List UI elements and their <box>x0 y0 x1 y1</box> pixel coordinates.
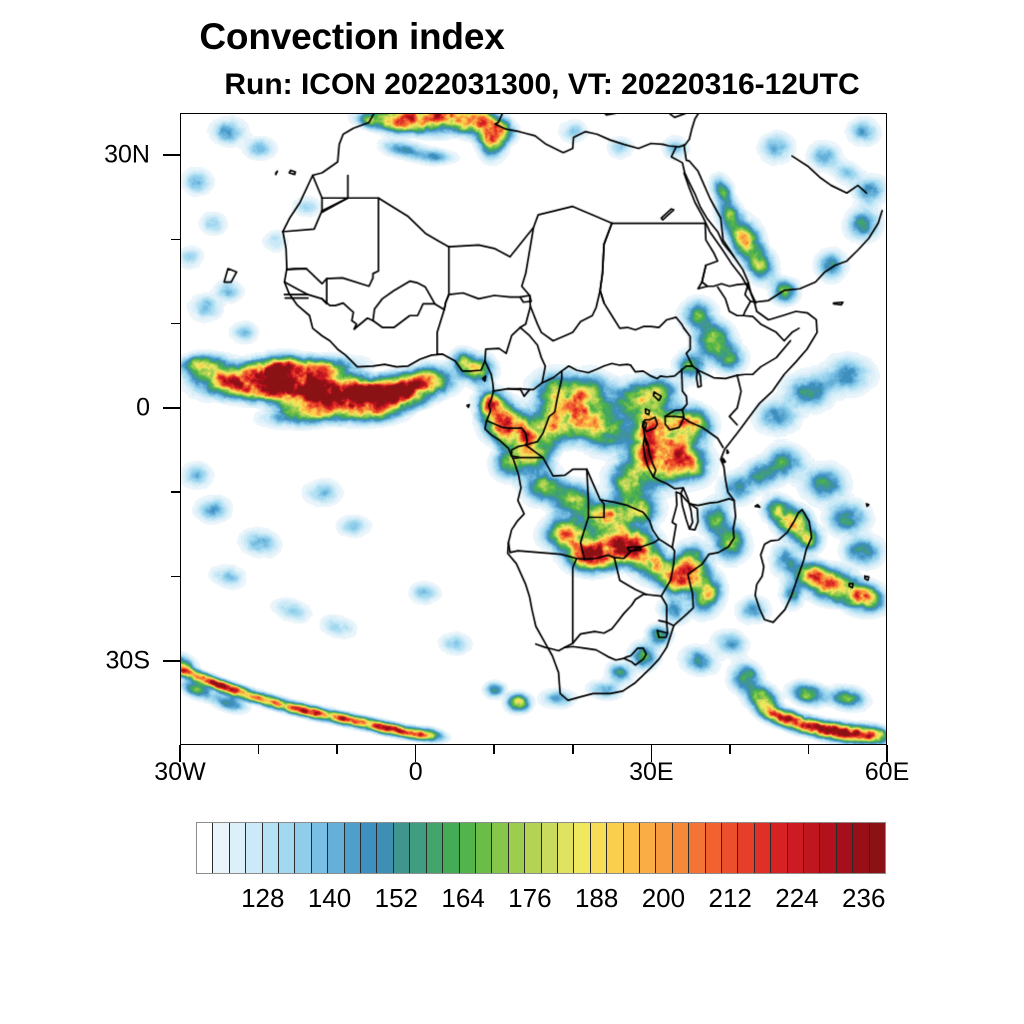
colorbar-cell <box>837 823 853 873</box>
map-panel <box>180 113 887 745</box>
colorbar <box>196 822 886 874</box>
colorbar-cell <box>213 823 229 873</box>
colorbar-cell <box>738 823 754 873</box>
colorbar-cell <box>509 823 525 873</box>
x-axis-label: 60E <box>865 760 909 785</box>
colorbar-cell <box>525 823 541 873</box>
page-title-text: Convection index <box>199 18 504 55</box>
colorbar-tick-label: 236 <box>842 885 885 911</box>
colorbar-cell <box>771 823 787 873</box>
y-tick-minor <box>171 239 180 241</box>
colorbar-tick-label: 176 <box>508 885 551 911</box>
x-tick-minor <box>729 745 731 754</box>
colorbar-cell <box>328 823 344 873</box>
colorbar-tick-label: 140 <box>308 885 351 911</box>
colorbar-cell <box>689 823 705 873</box>
colorbar-tick-label: 128 <box>241 885 284 911</box>
colorbar-cell <box>443 823 459 873</box>
colorbar-cell <box>558 823 574 873</box>
x-tick-minor <box>808 745 810 754</box>
colorbar-cell <box>755 823 771 873</box>
colorbar-cell <box>394 823 410 873</box>
colorbar-cell <box>591 823 607 873</box>
colorbar-cell <box>263 823 279 873</box>
colorbar-tick-label: 224 <box>775 885 818 911</box>
y-tick-major <box>163 660 180 662</box>
y-axis-label: 30S <box>106 648 150 673</box>
colorbar-cell <box>460 823 476 873</box>
y-axis-label: 30N <box>104 143 150 168</box>
x-tick-minor <box>572 745 574 754</box>
colorbar-cell <box>542 823 558 873</box>
x-axis-label: 0 <box>409 760 423 785</box>
colorbar-cell <box>230 823 246 873</box>
colorbar-cell <box>197 823 213 873</box>
colorbar-cell <box>295 823 311 873</box>
colorbar-tick-labels: 128140152164176188200212224236 <box>0 885 1024 919</box>
y-tick-major <box>163 407 180 409</box>
colorbar-cell <box>706 823 722 873</box>
x-tick-minor <box>493 745 495 754</box>
colorbar-cell <box>624 823 640 873</box>
colorbar-cell <box>870 823 885 873</box>
y-axis-label: 0 <box>136 395 150 420</box>
colorbar-cell <box>820 823 836 873</box>
colorbar-tick-label: 152 <box>375 885 418 911</box>
colorbar-cell <box>607 823 623 873</box>
colorbar-cell <box>853 823 869 873</box>
colorbar-cell <box>312 823 328 873</box>
colorbar-cell <box>279 823 295 873</box>
colorbar-cell <box>656 823 672 873</box>
colorbar-cell <box>476 823 492 873</box>
colorbar-cell <box>427 823 443 873</box>
colorbar-cell <box>377 823 393 873</box>
colorbar-cell <box>361 823 377 873</box>
y-tick-major <box>163 154 180 156</box>
colorbar-cell <box>246 823 262 873</box>
y-tick-minor <box>171 576 180 578</box>
convection-index-map <box>181 114 886 744</box>
colorbar-cell <box>410 823 426 873</box>
colorbar-tick-label: 188 <box>575 885 618 911</box>
convection-index-figure: Convection index Run: ICON 2022031300, V… <box>0 0 1024 1024</box>
colorbar-cell <box>345 823 361 873</box>
colorbar-cell <box>804 823 820 873</box>
page-subtitle: Run: ICON 2022031300, VT: 20220316-12UTC <box>0 70 1024 100</box>
page-subtitle-text: Run: ICON 2022031300, VT: 20220316-12UTC <box>224 70 859 100</box>
colorbar-cell <box>788 823 804 873</box>
x-tick-minor <box>258 745 260 754</box>
colorbar-tick-label: 164 <box>441 885 484 911</box>
colorbar-cell <box>722 823 738 873</box>
x-axis-label: 30W <box>154 760 205 785</box>
x-tick-minor <box>336 745 338 754</box>
y-tick-minor <box>171 491 180 493</box>
colorbar-cell <box>673 823 689 873</box>
colorbar-cell <box>574 823 590 873</box>
colorbar-tick-label: 200 <box>642 885 685 911</box>
x-axis-label: 30E <box>629 760 673 785</box>
y-tick-minor <box>171 323 180 325</box>
page-title: Convection index <box>0 18 1024 55</box>
colorbar-cell <box>492 823 508 873</box>
colorbar-tick-label: 212 <box>708 885 751 911</box>
colorbar-cell <box>640 823 656 873</box>
